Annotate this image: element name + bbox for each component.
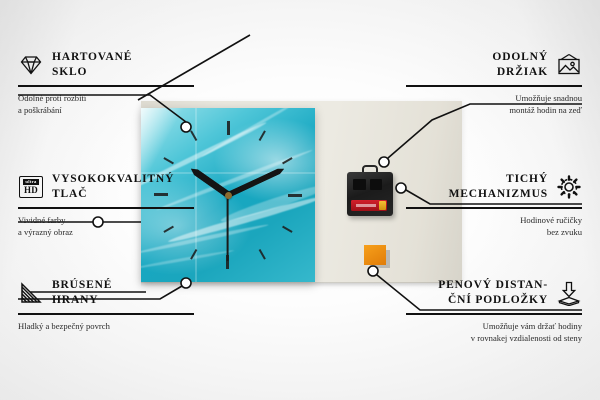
feature-title: ODOLNÝ DRŽIAK bbox=[492, 50, 548, 80]
gear-icon bbox=[556, 174, 582, 200]
clock-mechanism bbox=[347, 172, 393, 216]
hour-tick-12 bbox=[227, 121, 229, 195]
mechanism-body bbox=[347, 172, 393, 216]
divider bbox=[406, 207, 582, 208]
feature-ground-edges: BRÚSENÉ HRANY Hladký a bezpečný povrch bbox=[18, 278, 194, 332]
feature-silent-mechanism: TICHÝ MECHANIZMUS Hodinové ručičky bez z… bbox=[406, 172, 582, 239]
wall-hanger-icon bbox=[556, 52, 582, 78]
feature-hardened-glass: HARTOVANÉ SKLO Odolné proti rozbití a po… bbox=[18, 50, 194, 117]
feature-foam-spacers: PENOVÝ DISTAN- ČNÍ PODLOŽKY Umožňuje vám… bbox=[406, 278, 582, 345]
feature-head: BRÚSENÉ HRANY bbox=[18, 278, 194, 308]
mechanism-dial-left bbox=[353, 179, 366, 190]
feature-title: PENOVÝ DISTAN- ČNÍ PODLOŽKY bbox=[438, 278, 548, 308]
divider bbox=[406, 85, 582, 86]
ultra-hd-badge-icon: ultra HD bbox=[18, 174, 44, 200]
second-hand bbox=[227, 195, 229, 261]
diamond-icon bbox=[18, 52, 44, 78]
foam-spacer-icon bbox=[556, 280, 582, 306]
feature-head: ODOLNÝ DRŽIAK bbox=[406, 50, 582, 80]
divider bbox=[18, 313, 194, 314]
feature-head: HARTOVANÉ SKLO bbox=[18, 50, 194, 80]
mechanism-dial-right bbox=[370, 179, 382, 190]
feature-description: Umožňuje snadnou montáž hodin na zeď bbox=[406, 92, 582, 117]
feature-head: TICHÝ MECHANIZMUS bbox=[406, 172, 582, 202]
feature-description: Vividné farby a výrazný obraz bbox=[18, 214, 194, 239]
divider bbox=[18, 85, 194, 86]
battery bbox=[351, 200, 387, 211]
feature-title: HARTOVANÉ SKLO bbox=[52, 50, 132, 80]
feature-title: VYSOKOKVALITNÝ TLAČ bbox=[52, 172, 174, 202]
feather-streak bbox=[141, 249, 234, 270]
feature-description: Umožňuje vám držať hodiny v rovnakej vzd… bbox=[406, 320, 582, 345]
ground-edges-icon bbox=[18, 280, 44, 306]
feature-head: PENOVÝ DISTAN- ČNÍ PODLOŽKY bbox=[406, 278, 582, 308]
hour-tick-3 bbox=[228, 194, 302, 196]
feature-description: Odolné proti rozbití a poškrábání bbox=[18, 92, 194, 117]
feature-description: Hodinové ručičky bez zvuku bbox=[406, 214, 582, 239]
divider bbox=[406, 313, 582, 314]
feature-high-quality-print: ultra HD VYSOKOKVALITNÝ TLAČ Vividné far… bbox=[18, 172, 194, 239]
hand-center-cap bbox=[225, 192, 232, 199]
feature-durable-hanger: ODOLNÝ DRŽIAK Umožňuje snadnou montáž ho… bbox=[406, 50, 582, 117]
feature-title: TICHÝ MECHANIZMUS bbox=[449, 172, 548, 202]
feature-description: Hladký a bezpečný povrch bbox=[18, 320, 194, 332]
feature-head: ultra HD VYSOKOKVALITNÝ TLAČ bbox=[18, 172, 194, 202]
infographic-stage: HARTOVANÉ SKLO Odolné proti rozbití a po… bbox=[0, 0, 600, 400]
divider bbox=[18, 207, 194, 208]
feature-title: BRÚSENÉ HRANY bbox=[52, 278, 112, 308]
foam-spacer-pad bbox=[364, 245, 386, 265]
